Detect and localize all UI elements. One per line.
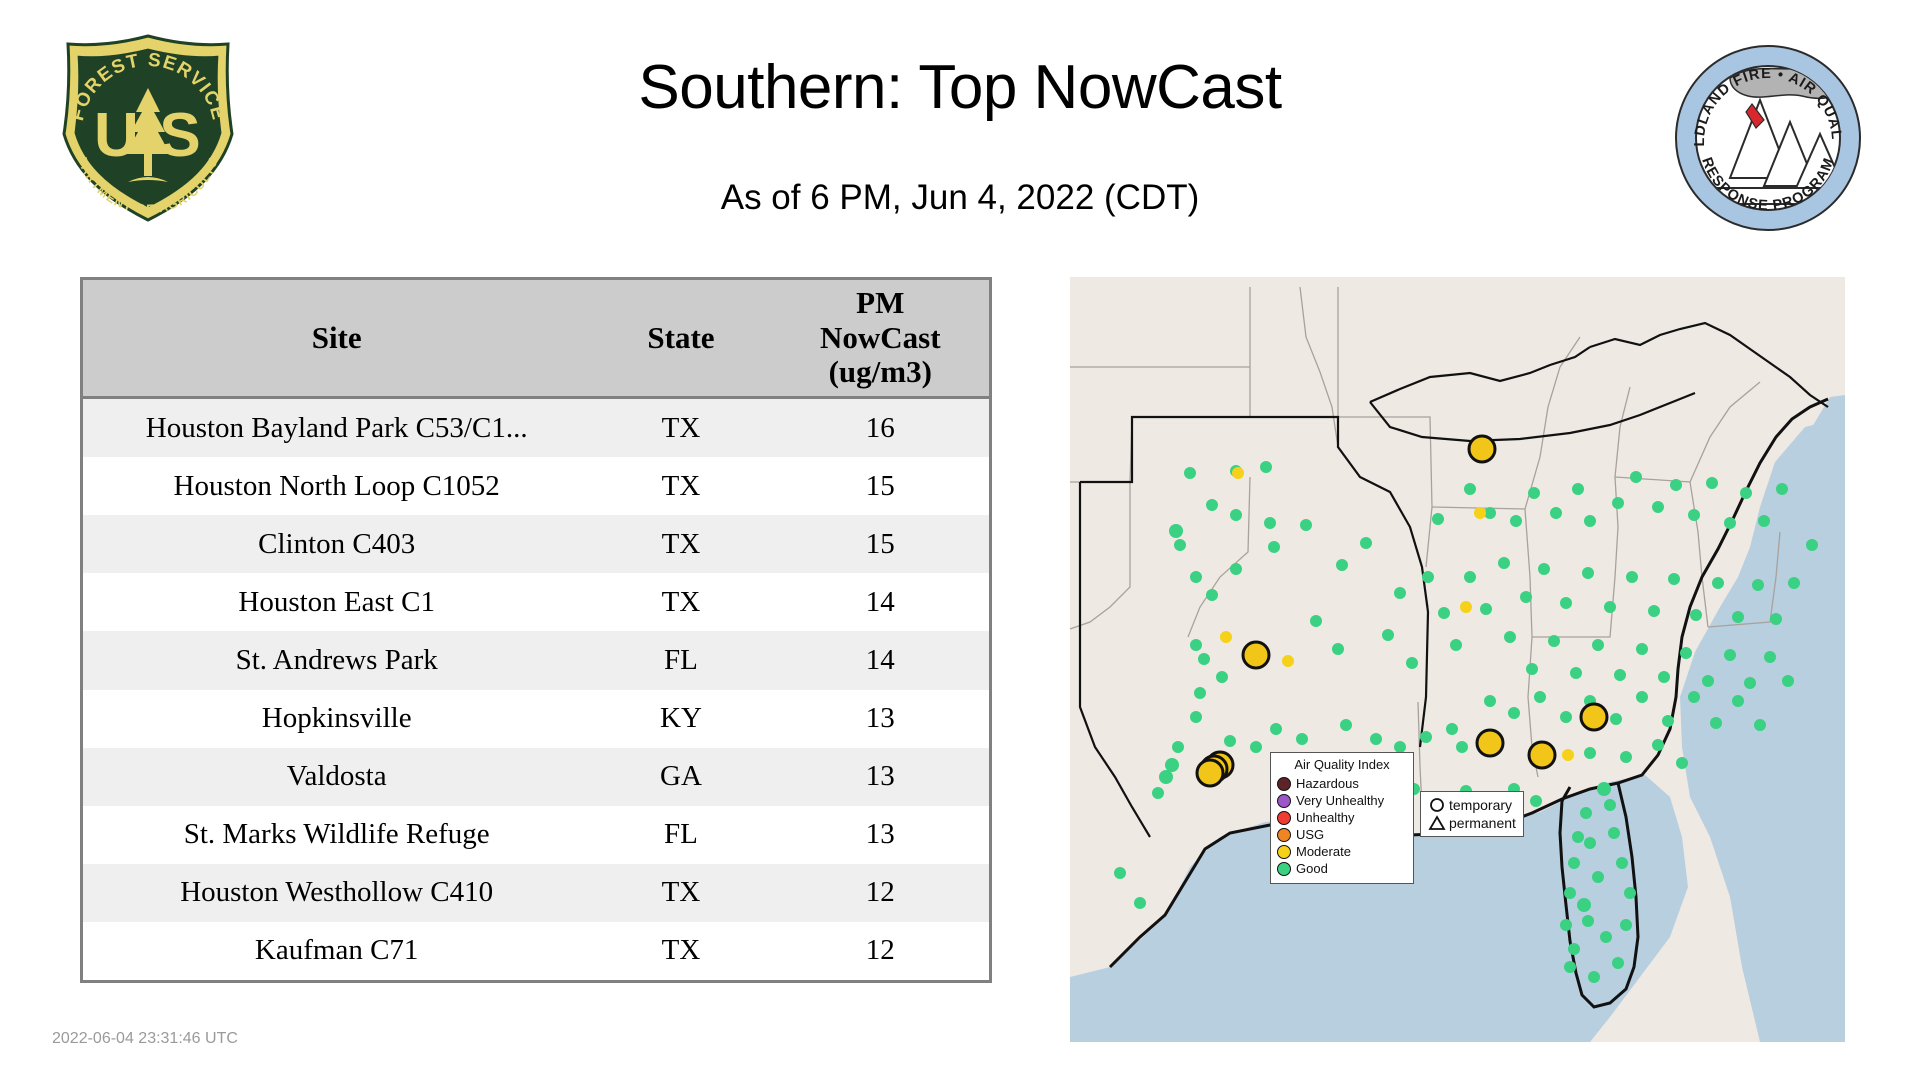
monitor-type-legend: temporary permanent <box>1420 791 1524 837</box>
aqi-color-swatch-icon <box>1277 845 1291 859</box>
cell-state: TX <box>590 573 771 631</box>
top-monitor-kaufman <box>1243 642 1269 668</box>
table-row[interactable]: Houston East C1TX14 <box>83 573 989 631</box>
page-subtitle: As of 6 PM, Jun 4, 2022 (CDT) <box>300 178 1620 218</box>
column-header-pm-nowcast: PM NowCast (ug/m3) <box>772 280 989 398</box>
column-header-site: Site <box>83 280 590 398</box>
cell-state: TX <box>590 864 771 922</box>
cell-site: Houston East C1 <box>83 573 590 631</box>
cell-pm-nowcast: 14 <box>772 631 989 689</box>
aqi-legend-label: Unhealthy <box>1296 811 1355 824</box>
cell-pm-nowcast: 16 <box>772 398 989 458</box>
cell-state: GA <box>590 748 771 806</box>
table-row[interactable]: HopkinsvilleKY13 <box>83 690 989 748</box>
aqi-color-swatch-icon <box>1277 811 1291 825</box>
table-row[interactable]: Clinton C403TX15 <box>83 515 989 573</box>
legend-row-permanent: permanent <box>1428 814 1516 832</box>
monitor-map[interactable]: Air Quality Index HazardousVery Unhealth… <box>1070 277 1845 1042</box>
cell-site: Hopkinsville <box>83 690 590 748</box>
cell-site: Houston North Loop C1052 <box>83 457 590 515</box>
cell-site: Houston Westhollow C410 <box>83 864 590 922</box>
aqi-color-swatch-icon <box>1277 794 1291 808</box>
top-monitor-valdosta <box>1581 704 1607 730</box>
aqi-legend-rows: HazardousVery UnhealthyUnhealthyUSGModer… <box>1277 775 1407 877</box>
aqi-legend-item: Unhealthy <box>1277 809 1407 826</box>
aqi-legend-label: Hazardous <box>1296 777 1359 790</box>
table-row[interactable]: St. Marks Wildlife RefugeFL13 <box>83 806 989 864</box>
aqi-color-swatch-icon <box>1277 862 1291 876</box>
page-title: Southern: Top NowCast <box>300 52 1620 123</box>
cell-pm-nowcast: 15 <box>772 515 989 573</box>
top-nowcast-table: Site State PM NowCast (ug/m3) Houston Ba… <box>83 280 989 980</box>
cell-site: Clinton C403 <box>83 515 590 573</box>
table-header: Site State PM NowCast (ug/m3) <box>83 280 989 398</box>
cell-pm-nowcast: 12 <box>772 922 989 980</box>
aqi-legend-label: USG <box>1296 828 1324 841</box>
aqi-legend-label: Good <box>1296 862 1328 875</box>
table-row[interactable]: Houston Bayland Park C53/C1...TX16 <box>83 398 989 458</box>
cell-pm-nowcast: 15 <box>772 457 989 515</box>
aqi-legend-title: Air Quality Index <box>1277 757 1407 772</box>
cell-site: St. Marks Wildlife Refuge <box>83 806 590 864</box>
svg-text:U: U <box>94 101 139 170</box>
cell-state: TX <box>590 457 771 515</box>
generation-timestamp: 2022-06-04 23:31:46 UTC <box>52 1030 238 1048</box>
cell-pm-nowcast: 13 <box>772 748 989 806</box>
cell-state: TX <box>590 515 771 573</box>
table-row[interactable]: ValdostaGA13 <box>83 748 989 806</box>
top-monitor-st-marks <box>1529 742 1555 768</box>
aqi-legend-label: Moderate <box>1296 845 1351 858</box>
cell-site: St. Andrews Park <box>83 631 590 689</box>
cell-pm-nowcast: 13 <box>772 690 989 748</box>
triangle-icon <box>1428 815 1446 831</box>
cell-state: TX <box>590 398 771 458</box>
table-body: Houston Bayland Park C53/C1...TX16Housto… <box>83 398 989 980</box>
aqi-legend-item: Very Unhealthy <box>1277 792 1407 809</box>
cell-site: Kaufman C71 <box>83 922 590 980</box>
cell-state: FL <box>590 806 771 864</box>
svg-text:S: S <box>159 101 200 170</box>
cell-pm-nowcast: 13 <box>772 806 989 864</box>
top-monitor-houston-3 <box>1197 760 1223 786</box>
top-nowcast-table-panel: Site State PM NowCast (ug/m3) Houston Ba… <box>80 277 992 983</box>
map-canvas[interactable] <box>1070 277 1845 1042</box>
circle-icon <box>1428 797 1446 813</box>
cell-state: KY <box>590 690 771 748</box>
table-row[interactable]: St. Andrews ParkFL14 <box>83 631 989 689</box>
aqi-legend-item: Hazardous <box>1277 775 1407 792</box>
aqi-legend: Air Quality Index HazardousVery Unhealth… <box>1270 752 1414 884</box>
aqi-legend-item: USG <box>1277 826 1407 843</box>
top-monitor-hopkinsville <box>1469 436 1495 462</box>
cell-state: TX <box>590 922 771 980</box>
legend-label-temporary: temporary <box>1449 798 1512 812</box>
cell-state: FL <box>590 631 771 689</box>
aqi-color-swatch-icon <box>1277 828 1291 842</box>
table-row[interactable]: Houston Westhollow C410TX12 <box>83 864 989 922</box>
usfs-shield-logo: FOREST SERVICE U S DEPARTMENT OF AGRICUL… <box>48 28 248 228</box>
aqi-legend-item: Moderate <box>1277 843 1407 860</box>
legend-row-temporary: temporary <box>1428 796 1516 814</box>
column-header-state: State <box>590 280 771 398</box>
top-monitor-st-andrews <box>1477 730 1503 756</box>
aqi-legend-label: Very Unhealthy <box>1296 794 1384 807</box>
cell-pm-nowcast: 14 <box>772 573 989 631</box>
table-row[interactable]: Kaufman C71TX12 <box>83 922 989 980</box>
cell-site: Valdosta <box>83 748 590 806</box>
cell-site: Houston Bayland Park C53/C1... <box>83 398 590 458</box>
table-row[interactable]: Houston North Loop C1052TX15 <box>83 457 989 515</box>
legend-label-permanent: permanent <box>1449 816 1516 830</box>
aqi-color-swatch-icon <box>1277 777 1291 791</box>
aqi-legend-item: Good <box>1277 860 1407 877</box>
wfaqrp-logo: WILDLAND FIRE • AIR QUALITY RESPONSE PRO… <box>1668 38 1868 238</box>
cell-pm-nowcast: 12 <box>772 864 989 922</box>
table-header-row: Site State PM NowCast (ug/m3) <box>83 280 989 398</box>
